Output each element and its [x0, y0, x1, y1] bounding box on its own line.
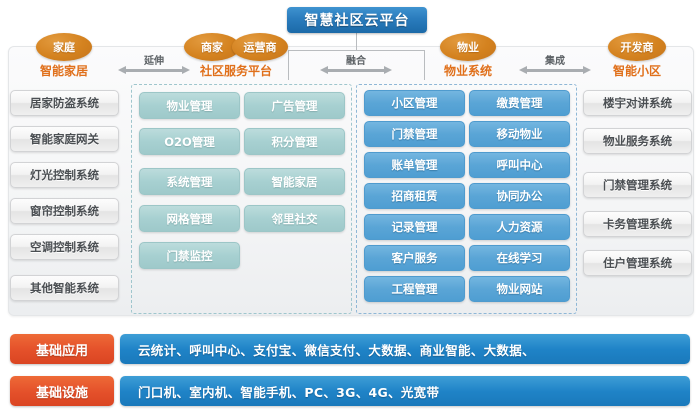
arrow-integrate — [519, 66, 591, 74]
arrow-head-right-icon — [384, 66, 392, 74]
arrow-extend-label: 延伸 — [118, 52, 190, 67]
tile-property-3[interactable]: 移动物业 — [469, 121, 570, 147]
tile-property-10[interactable]: 客户服务 — [364, 245, 465, 271]
title-connector-bar — [288, 50, 425, 51]
tile-smart-home-2[interactable]: 灯光控制系统 — [10, 162, 119, 188]
tile-service-6[interactable]: 网格管理 — [139, 205, 240, 232]
tile-service-1[interactable]: 广告管理 — [244, 92, 345, 119]
ellipse-property-label: 物业 — [457, 39, 479, 55]
caption-smart-community: 智能小区 — [597, 62, 677, 79]
arrow-fuse — [320, 66, 392, 74]
tile-property-12[interactable]: 工程管理 — [364, 276, 465, 302]
tile-smart-home-3[interactable]: 窗帘控制系统 — [10, 198, 119, 224]
arrow-shaft — [125, 69, 183, 72]
ellipse-developer: 开发商 — [608, 33, 666, 61]
tile-community-1[interactable]: 物业服务系统 — [583, 128, 692, 154]
title-connector-left — [288, 50, 289, 80]
tile-smart-home-4[interactable]: 空调控制系统 — [10, 234, 119, 260]
tile-property-7[interactable]: 协同办公 — [469, 183, 570, 209]
tile-service-4[interactable]: 系统管理 — [139, 168, 240, 195]
tile-property-0[interactable]: 小区管理 — [364, 90, 465, 116]
tile-service-5[interactable]: 智能家居 — [244, 168, 345, 195]
arrow-fuse-label: 融合 — [320, 52, 392, 67]
tile-property-9[interactable]: 人力资源 — [469, 214, 570, 240]
arrow-extend — [118, 66, 190, 74]
ellipse-property: 物业 — [440, 33, 496, 61]
tile-property-2[interactable]: 门禁管理 — [364, 121, 465, 147]
tile-smart-home-1[interactable]: 智能家庭网关 — [10, 126, 119, 152]
title-connector-right — [424, 50, 425, 80]
ellipse-developer-label: 开发商 — [621, 39, 654, 55]
ellipse-operator: 运营商 — [232, 33, 288, 61]
caption-property-system: 物业系统 — [428, 62, 508, 79]
tile-community-3[interactable]: 卡务管理系统 — [583, 211, 692, 237]
tile-property-8[interactable]: 记录管理 — [364, 214, 465, 240]
ellipse-family-label: 家庭 — [53, 39, 75, 55]
tile-community-2[interactable]: 门禁管理系统 — [583, 172, 692, 198]
caption-service-platform: 社区服务平台 — [186, 62, 286, 79]
arrow-shaft — [526, 69, 584, 72]
bar-basic-application[interactable]: 云统计、呼叫中心、支付宝、微信支付、大数据、商业智能、大数据、 — [120, 334, 690, 364]
ellipse-operator-label: 运营商 — [244, 39, 277, 55]
tile-property-11[interactable]: 在线学习 — [469, 245, 570, 271]
tile-community-0[interactable]: 楼宇对讲系统 — [583, 90, 692, 116]
tile-community-4[interactable]: 住户管理系统 — [583, 250, 692, 276]
tile-service-7[interactable]: 邻里社交 — [244, 205, 345, 232]
tile-smart-home-0[interactable]: 居家防盗系统 — [10, 90, 119, 116]
tile-service-8[interactable]: 门禁监控 — [139, 242, 240, 269]
title-connector-stem — [356, 33, 357, 50]
bar-infrastructure[interactable]: 门口机、室内机、智能手机、PC、3G、4G、光宽带 — [120, 376, 690, 406]
arrow-integrate-label: 集成 — [519, 52, 591, 67]
diagram-canvas: 智慧社区云平台 家庭 智能家居 商家 运营商 社区服务平台 物业 物业系统 开发… — [0, 0, 700, 417]
tag-infrastructure[interactable]: 基础设施 — [10, 376, 114, 406]
tile-property-1[interactable]: 缴费管理 — [469, 90, 570, 116]
tile-service-2[interactable]: O2O管理 — [139, 128, 240, 155]
tag-basic-application[interactable]: 基础应用 — [10, 334, 114, 364]
page-title: 智慧社区云平台 — [287, 7, 427, 33]
tile-property-4[interactable]: 账单管理 — [364, 152, 465, 178]
tile-property-6[interactable]: 招商租赁 — [364, 183, 465, 209]
tile-property-13[interactable]: 物业网站 — [469, 276, 570, 302]
tile-service-3[interactable]: 积分管理 — [244, 128, 345, 155]
arrow-head-right-icon — [583, 66, 591, 74]
ellipse-family: 家庭 — [36, 33, 92, 61]
tile-property-5[interactable]: 呼叫中心 — [469, 152, 570, 178]
tile-service-0[interactable]: 物业管理 — [139, 92, 240, 119]
caption-smart-home: 智能家居 — [24, 62, 104, 79]
arrow-shaft — [327, 69, 385, 72]
tile-smart-home-5[interactable]: 其他智能系统 — [10, 275, 119, 301]
ellipse-merchant-label: 商家 — [201, 39, 223, 55]
